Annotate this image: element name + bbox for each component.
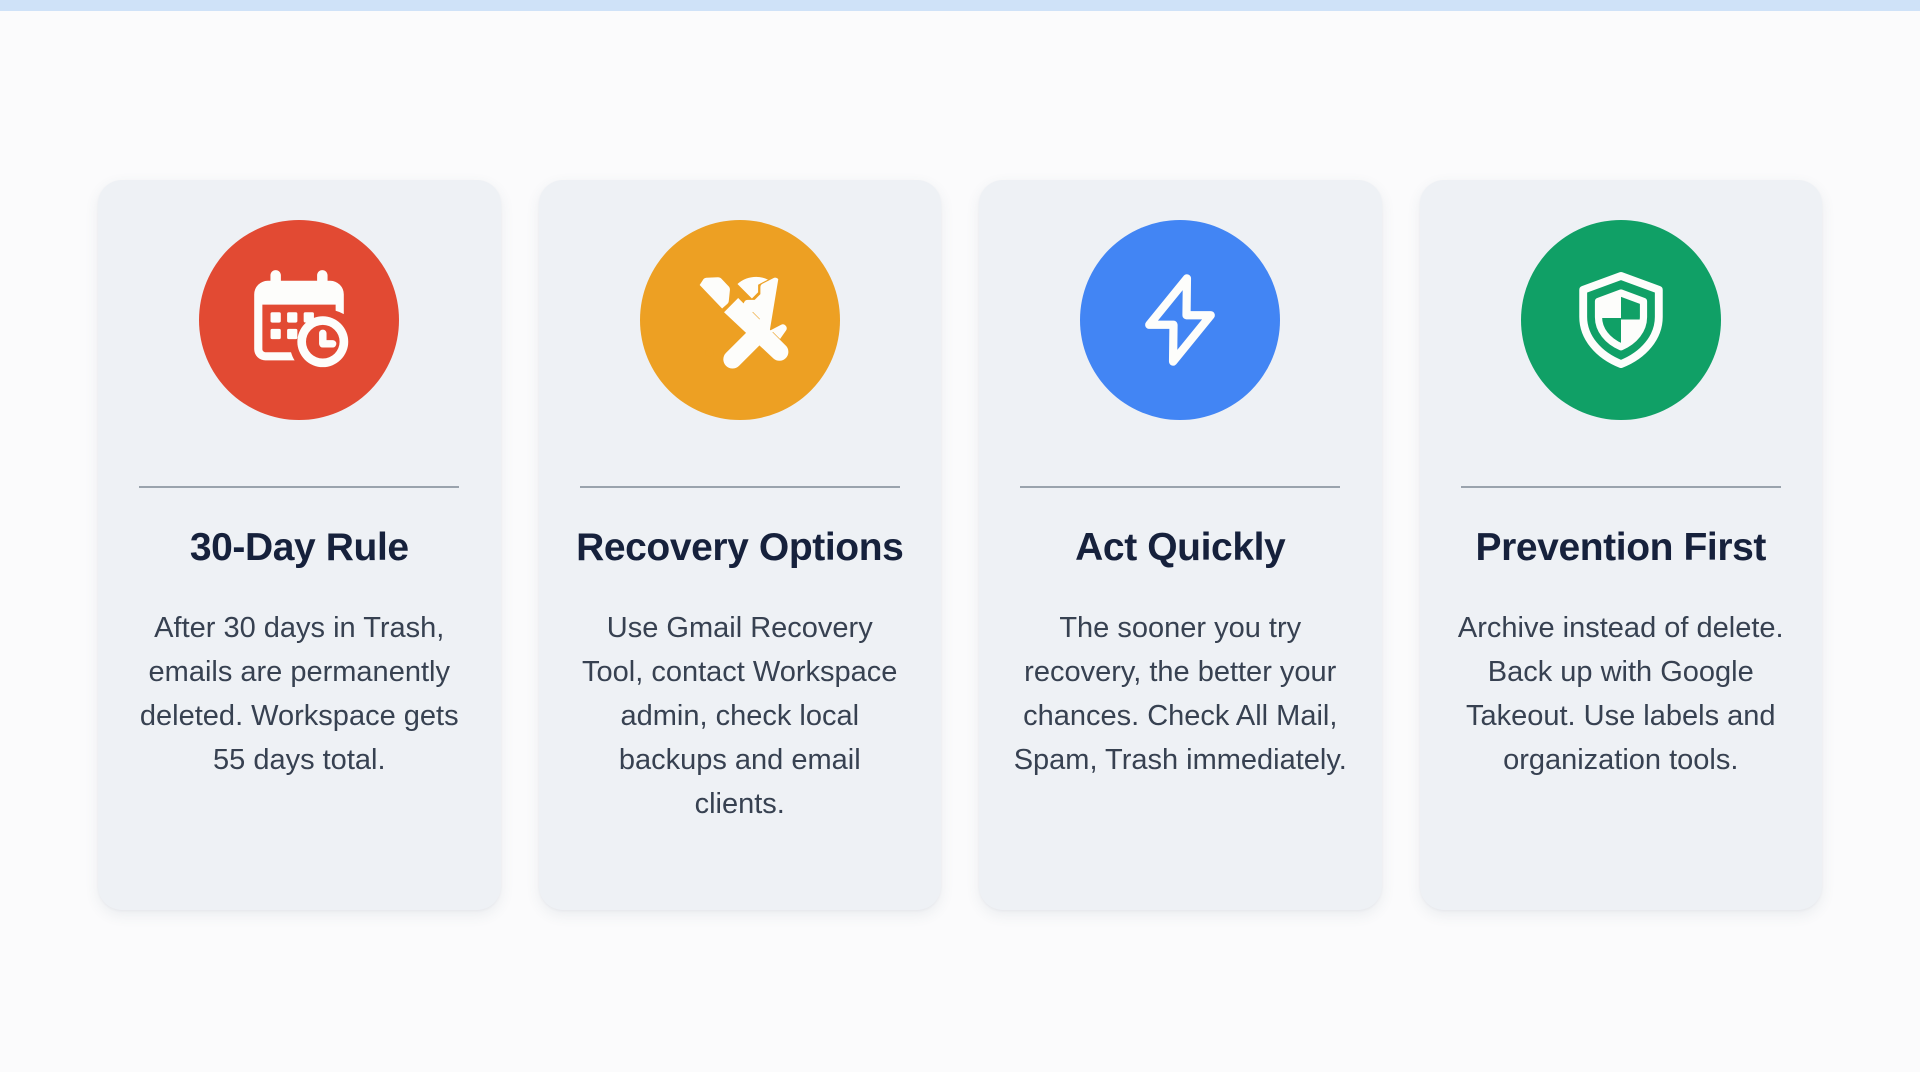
card-body-text: Archive instead of delete. Back up with … bbox=[1454, 606, 1789, 782]
card-body-text: After 30 days in Trash, emails are perma… bbox=[132, 606, 467, 782]
shield-check-icon bbox=[1567, 266, 1675, 374]
top-accent-band bbox=[0, 0, 1920, 11]
calendar-clock-icon bbox=[243, 264, 355, 376]
icon-badge-lightning bbox=[1080, 220, 1280, 420]
card-body-text: Use Gmail Recovery Tool, contact Workspa… bbox=[573, 606, 908, 826]
card-divider bbox=[1461, 486, 1781, 488]
info-card-grid: 30-Day Rule After 30 days in Trash, emai… bbox=[98, 180, 1822, 910]
lightning-bolt-icon bbox=[1128, 268, 1232, 372]
card-title: Prevention First bbox=[1476, 524, 1767, 572]
card-divider bbox=[1020, 486, 1340, 488]
info-card-recovery-options[interactable]: Recovery Options Use Gmail Recovery Tool… bbox=[539, 180, 942, 910]
info-card-act-quickly[interactable]: Act Quickly The sooner you try recovery,… bbox=[979, 180, 1382, 910]
card-title: Act Quickly bbox=[1075, 524, 1285, 572]
icon-badge-tools bbox=[640, 220, 840, 420]
card-body-text: The sooner you try recovery, the better … bbox=[1013, 606, 1348, 782]
card-divider bbox=[139, 486, 459, 488]
page-background: 30-Day Rule After 30 days in Trash, emai… bbox=[0, 11, 1920, 1072]
card-divider bbox=[580, 486, 900, 488]
info-card-prevention-first[interactable]: Prevention First Archive instead of dele… bbox=[1420, 180, 1823, 910]
tools-wrench-screwdriver-icon bbox=[685, 265, 795, 375]
icon-badge-shield bbox=[1521, 220, 1721, 420]
card-title: 30-Day Rule bbox=[190, 524, 409, 572]
icon-badge-calendar-clock bbox=[199, 220, 399, 420]
card-title: Recovery Options bbox=[576, 524, 903, 572]
info-card-30-day-rule[interactable]: 30-Day Rule After 30 days in Trash, emai… bbox=[98, 180, 501, 910]
